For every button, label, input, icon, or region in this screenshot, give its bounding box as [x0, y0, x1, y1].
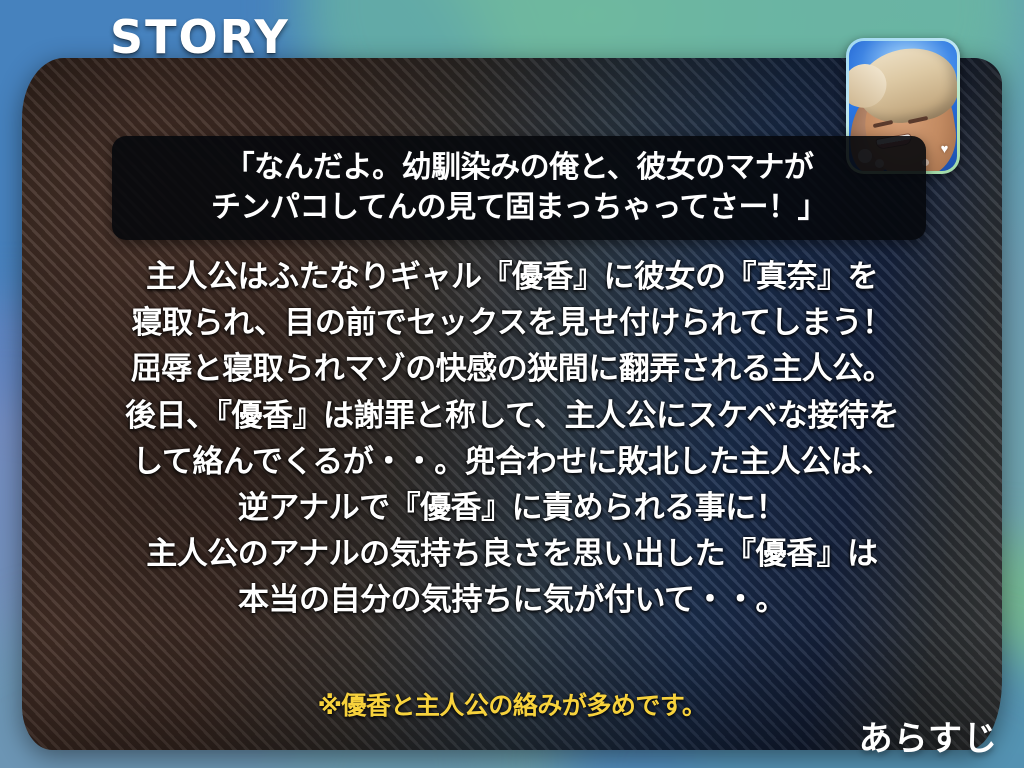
synopsis-line: 逆アナルで『優香』に責められる事に！	[238, 485, 786, 531]
synopsis-line: 後日、『優香』は謝罪と称して、主人公にスケベな接待を	[125, 393, 899, 439]
synopsis-line: 主人公のアナルの気持ち良さを思い出した『優香』は	[146, 531, 877, 577]
quote-line: チンパコしてんの見て固まっちゃってさー！」	[211, 189, 827, 227]
synopsis-text: 主人公はふたなりギャル『優香』に彼女の『真奈』を 寝取られ、目の前でセックスを見…	[40, 254, 984, 624]
heart-icon: ♥	[941, 142, 949, 155]
quote-line: 「なんだよ。幼馴染みの俺と、彼女のマナが	[225, 149, 814, 187]
synopsis-line: 寝取られ、目の前でセックスを見せ付けられてしまう！	[132, 300, 893, 346]
quote-box: 「なんだよ。幼馴染みの俺と、彼女のマナが チンパコしてんの見て固まっちゃってさー…	[112, 136, 926, 240]
synopsis-line: 本当の自分の気持ちに気が付いて・・。	[238, 577, 786, 623]
section-label: あらすじ	[859, 711, 998, 760]
synopsis-line: 主人公はふたなりギャル『優香』に彼女の『真奈』を	[146, 254, 878, 300]
page-title: STORY	[110, 10, 290, 64]
synopsis-line: 屈辱と寝取られマゾの快感の狭間に翻弄される主人公。	[131, 346, 894, 392]
synopsis-line: して絡んでくるが・・。兜合わせに敗北した主人公は、	[132, 439, 891, 485]
story-page: STORY ♥ 「なんだよ。幼馴染みの俺と、彼女のマナが チンパコしてんの見て固…	[0, 0, 1024, 768]
